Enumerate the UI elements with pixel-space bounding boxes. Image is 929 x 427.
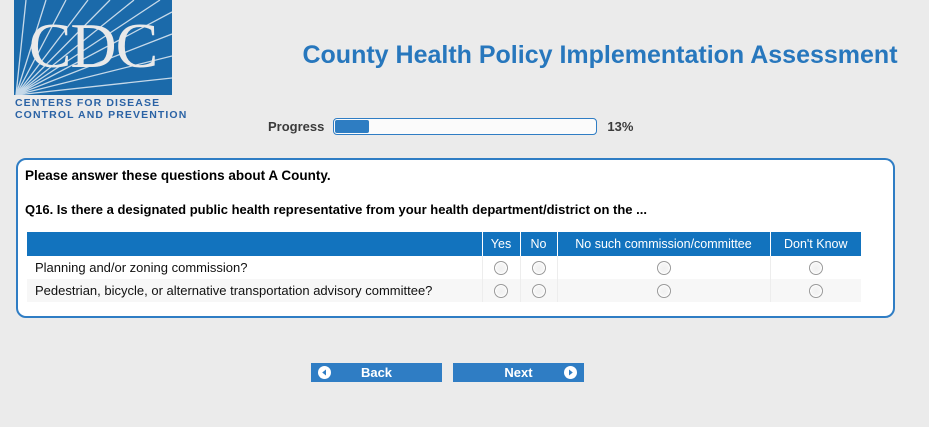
- back-button[interactable]: Back: [311, 363, 442, 382]
- matrix-cell-no[interactable]: [520, 279, 557, 302]
- matrix-row: Planning and/or zoning commission?: [27, 256, 861, 279]
- matrix-header-spacer: [27, 232, 482, 256]
- cdc-logo-letters: CDC: [14, 0, 172, 95]
- question-text: Q16. Is there a designated public health…: [25, 202, 647, 217]
- radio-dont-know[interactable]: [809, 261, 823, 275]
- matrix-cell-no-such-commission[interactable]: [557, 256, 770, 279]
- matrix-row-label: Planning and/or zoning commission?: [27, 256, 482, 279]
- matrix-cell-no[interactable]: [520, 256, 557, 279]
- progress-percent-label: 13%: [607, 119, 633, 134]
- matrix-header-no-such-commission-committee: No such commission/committee: [557, 232, 770, 256]
- cdc-logo-box: CDC: [14, 0, 172, 95]
- radio-no[interactable]: [532, 261, 546, 275]
- page-title: County Health Policy Implementation Asse…: [300, 41, 900, 70]
- panel-intro-text: Please answer these questions about A Co…: [25, 168, 331, 183]
- matrix-header-don-t-know: Don't Know: [770, 232, 861, 256]
- circle-right-arrow-icon: [564, 366, 577, 379]
- radio-no[interactable]: [532, 284, 546, 298]
- circle-left-arrow-icon: [318, 366, 331, 379]
- next-button-label: Next: [504, 366, 532, 379]
- progress-bar: [333, 118, 597, 135]
- matrix-cell-yes[interactable]: [482, 256, 520, 279]
- question-matrix-table: YesNoNo such commission/committeeDon't K…: [27, 232, 861, 302]
- matrix-header-row: YesNoNo such commission/committeeDon't K…: [27, 232, 861, 256]
- matrix-cell-no-such-commission[interactable]: [557, 279, 770, 302]
- radio-yes[interactable]: [494, 261, 508, 275]
- matrix-row-label: Pedestrian, bicycle, or alternative tran…: [27, 279, 482, 302]
- question-panel: Please answer these questions about A Co…: [16, 158, 895, 318]
- cdc-logo-tagline-line1: CENTERS FOR DISEASE: [15, 97, 160, 109]
- matrix-header-yes: Yes: [482, 232, 520, 256]
- progress-label: Progress: [268, 119, 324, 134]
- back-button-label: Back: [361, 366, 392, 379]
- matrix-header-no: No: [520, 232, 557, 256]
- matrix-cell-dont-know[interactable]: [770, 256, 861, 279]
- progress-row: Progress 13%: [268, 118, 633, 135]
- radio-yes[interactable]: [494, 284, 508, 298]
- radio-no-such-commission[interactable]: [657, 284, 671, 298]
- radio-dont-know[interactable]: [809, 284, 823, 298]
- navigation-buttons: Back Next: [311, 363, 584, 382]
- cdc-logo-tagline-line2: CONTROL AND PREVENTION: [15, 109, 187, 121]
- progress-bar-fill: [335, 120, 369, 133]
- matrix-row: Pedestrian, bicycle, or alternative tran…: [27, 279, 861, 302]
- matrix-cell-dont-know[interactable]: [770, 279, 861, 302]
- next-button[interactable]: Next: [453, 363, 584, 382]
- cdc-logo: CDC CENTERS FOR DISEASE CONTROL AND PREV…: [14, 0, 172, 124]
- matrix-cell-yes[interactable]: [482, 279, 520, 302]
- radio-no-such-commission[interactable]: [657, 261, 671, 275]
